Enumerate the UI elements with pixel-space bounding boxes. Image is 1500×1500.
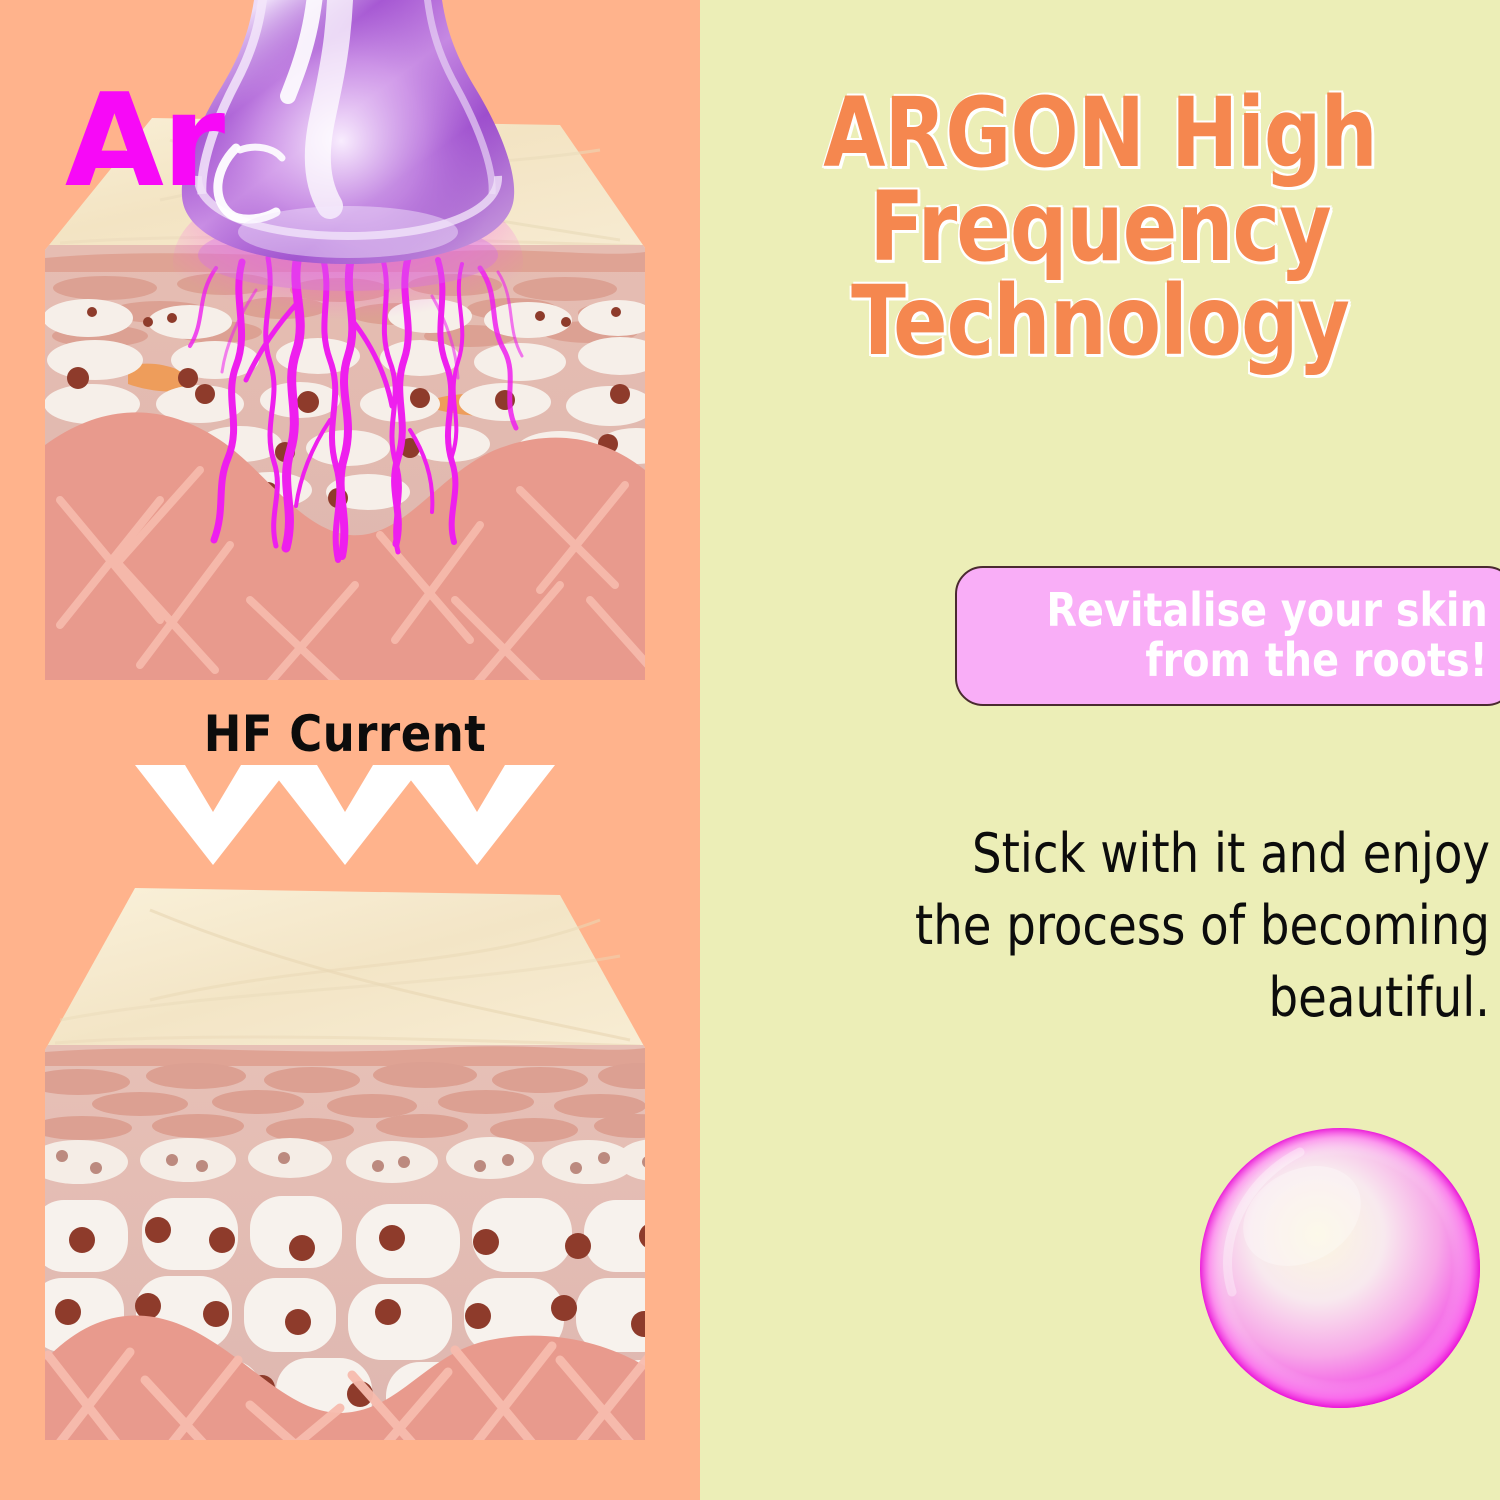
- poster-root: HF Current: [0, 0, 1500, 1500]
- chevron-down-arrow-icon: [45, 760, 645, 870]
- argon-bubble-icon: [1196, 1124, 1484, 1412]
- body-copy: Stick with it and enjoy the process of b…: [885, 818, 1490, 1033]
- healthy-skin-diagram: [0, 860, 700, 1480]
- tagline-badge-text: Revitalise your skin from the roots!: [1047, 586, 1500, 685]
- skin-block-front-face: [26, 1045, 700, 1478]
- tagline-badge: Revitalise your skin from the roots!: [955, 566, 1500, 706]
- page-title: ARGON High Frequency Technology: [728, 86, 1472, 368]
- argon-symbol: Ar: [0, 0, 288, 288]
- hf-current-label: HF Current: [45, 705, 645, 763]
